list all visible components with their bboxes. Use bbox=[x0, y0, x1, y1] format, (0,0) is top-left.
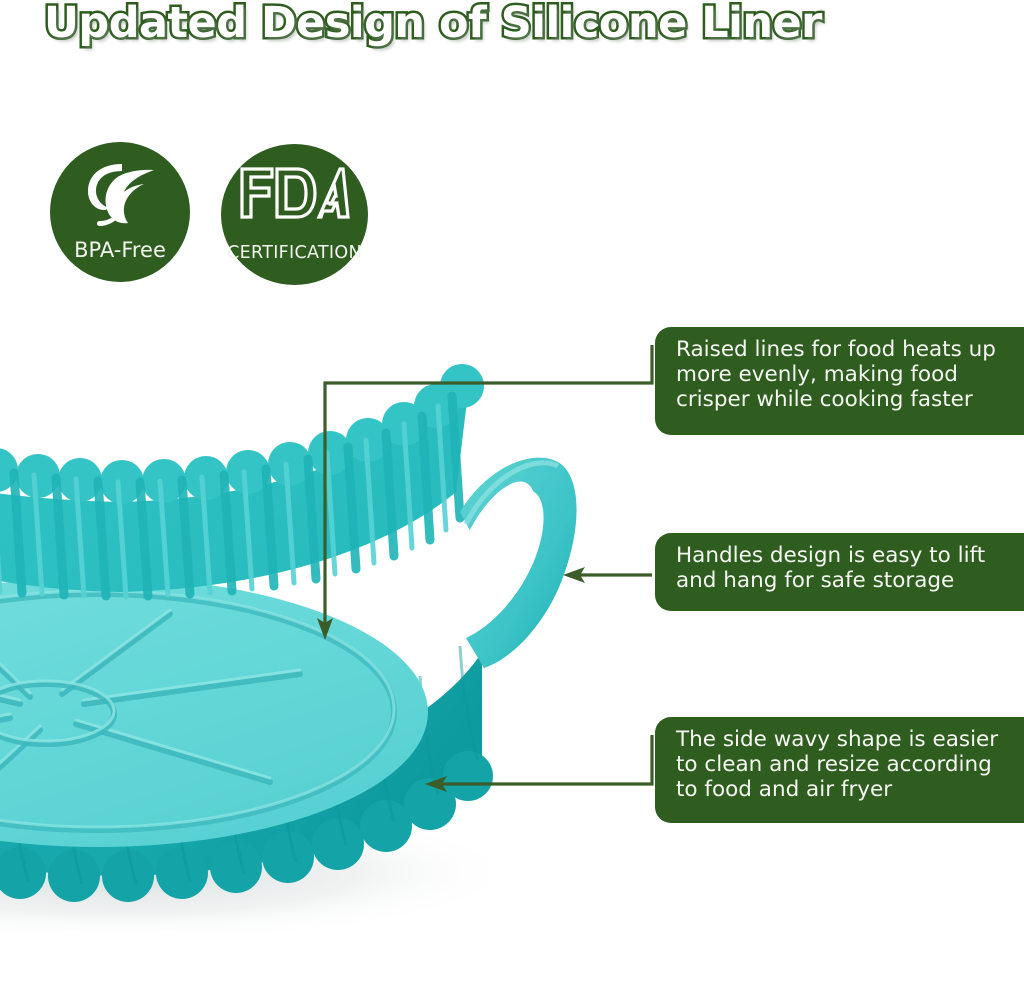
page-title: Updated Design of Silicone Liner bbox=[44, 0, 822, 48]
bowl-inner-wall-ribs bbox=[0, 360, 484, 597]
product-image-silicone-liner bbox=[0, 352, 610, 952]
badge-bpa-free: BPA-Free bbox=[50, 142, 190, 282]
callout-wavy-side: The side wavy shape is easier to clean a… bbox=[655, 717, 1024, 823]
badge-fda-label: CERTIFICATION bbox=[221, 243, 368, 263]
callout-raised-lines: Raised lines for food heats up more even… bbox=[655, 327, 1024, 435]
callout-handles: Handles design is easy to lift and hang … bbox=[655, 533, 1024, 611]
badge-fda-certification: CERTIFICATION bbox=[221, 144, 368, 285]
badge-bpa-free-label: BPA-Free bbox=[50, 238, 190, 262]
fda-icon bbox=[239, 166, 351, 220]
title-bar: Updated Design of Silicone Liner bbox=[0, 0, 1024, 58]
leaf-icon bbox=[82, 162, 158, 228]
bowl-handle bbox=[458, 458, 577, 668]
